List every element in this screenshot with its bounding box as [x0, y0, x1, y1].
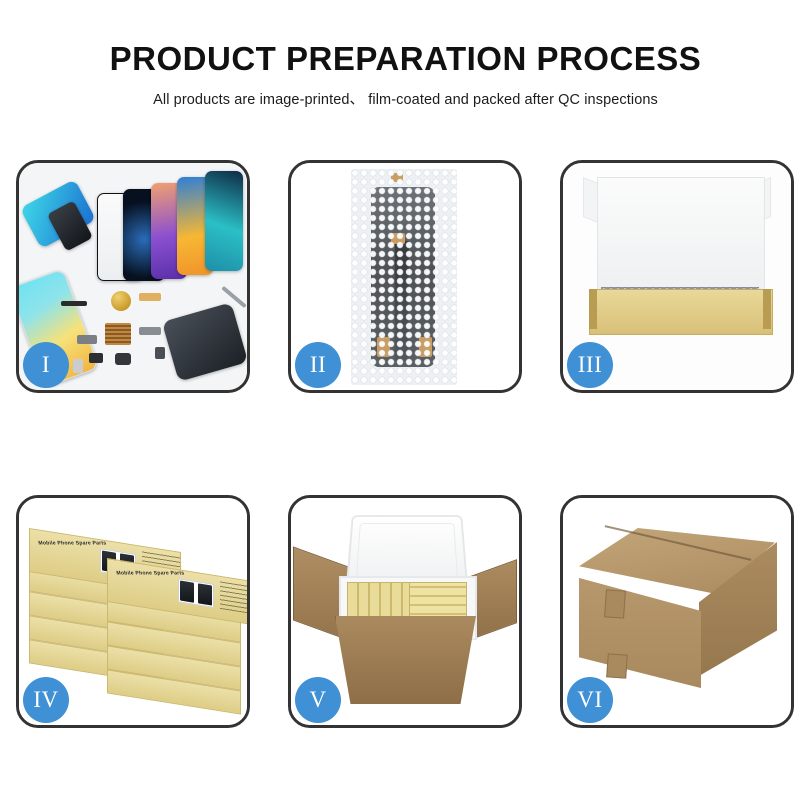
page-header: PRODUCT PREPARATION PROCESS All products…: [0, 0, 811, 109]
process-step-4[interactable]: Mobile Phone Spare Parts Mobile Phone Sp…: [16, 495, 250, 728]
gold-coil-part: [111, 291, 131, 311]
step-badge-5: V: [295, 677, 341, 723]
carton-body: [335, 616, 476, 704]
chip-grid-part: [105, 323, 131, 345]
step-badge-3: III: [567, 342, 613, 388]
button-part: [155, 347, 165, 359]
box-corner-right: [763, 289, 771, 329]
page-subtitle: All products are image-printed、 film-coa…: [0, 88, 811, 109]
bubble-texture: [351, 169, 457, 385]
inner-box-lid: [597, 177, 765, 295]
flex-cable-2: [139, 293, 161, 301]
box-artwork-thumb: [178, 578, 214, 608]
carton-tape-patch-top: [604, 589, 626, 618]
process-step-grid: I II: [16, 160, 795, 728]
retail-box-label: Mobile Phone Spare Parts: [38, 540, 107, 546]
process-step-3[interactable]: III: [560, 160, 794, 393]
camera-part: [89, 353, 103, 363]
flex-cable-3: [77, 335, 97, 344]
speaker-part: [115, 353, 131, 365]
bubble-wrap-bag: [351, 169, 457, 385]
process-step-6[interactable]: VI: [560, 495, 794, 728]
carton-tape-patch-bottom: [606, 653, 628, 678]
flex-cable-1: [61, 301, 87, 306]
step-badge-6: VI: [567, 677, 613, 723]
retail-box-label: Mobile Phone Spare Parts: [116, 570, 185, 576]
step-badge-4: IV: [23, 677, 69, 723]
box-corner-left: [589, 289, 597, 329]
page-title: PRODUCT PREPARATION PROCESS: [0, 40, 811, 78]
step-badge-2: II: [295, 342, 341, 388]
process-step-2[interactable]: II: [288, 160, 522, 393]
sim-tray-part: [73, 359, 83, 373]
phone-screen-teal: [205, 171, 243, 271]
process-step-1[interactable]: I: [16, 160, 250, 393]
process-step-5[interactable]: V: [288, 495, 522, 728]
step-badge-1: I: [23, 342, 69, 388]
inner-box-base: [589, 289, 773, 335]
flex-cable-4: [139, 327, 161, 335]
